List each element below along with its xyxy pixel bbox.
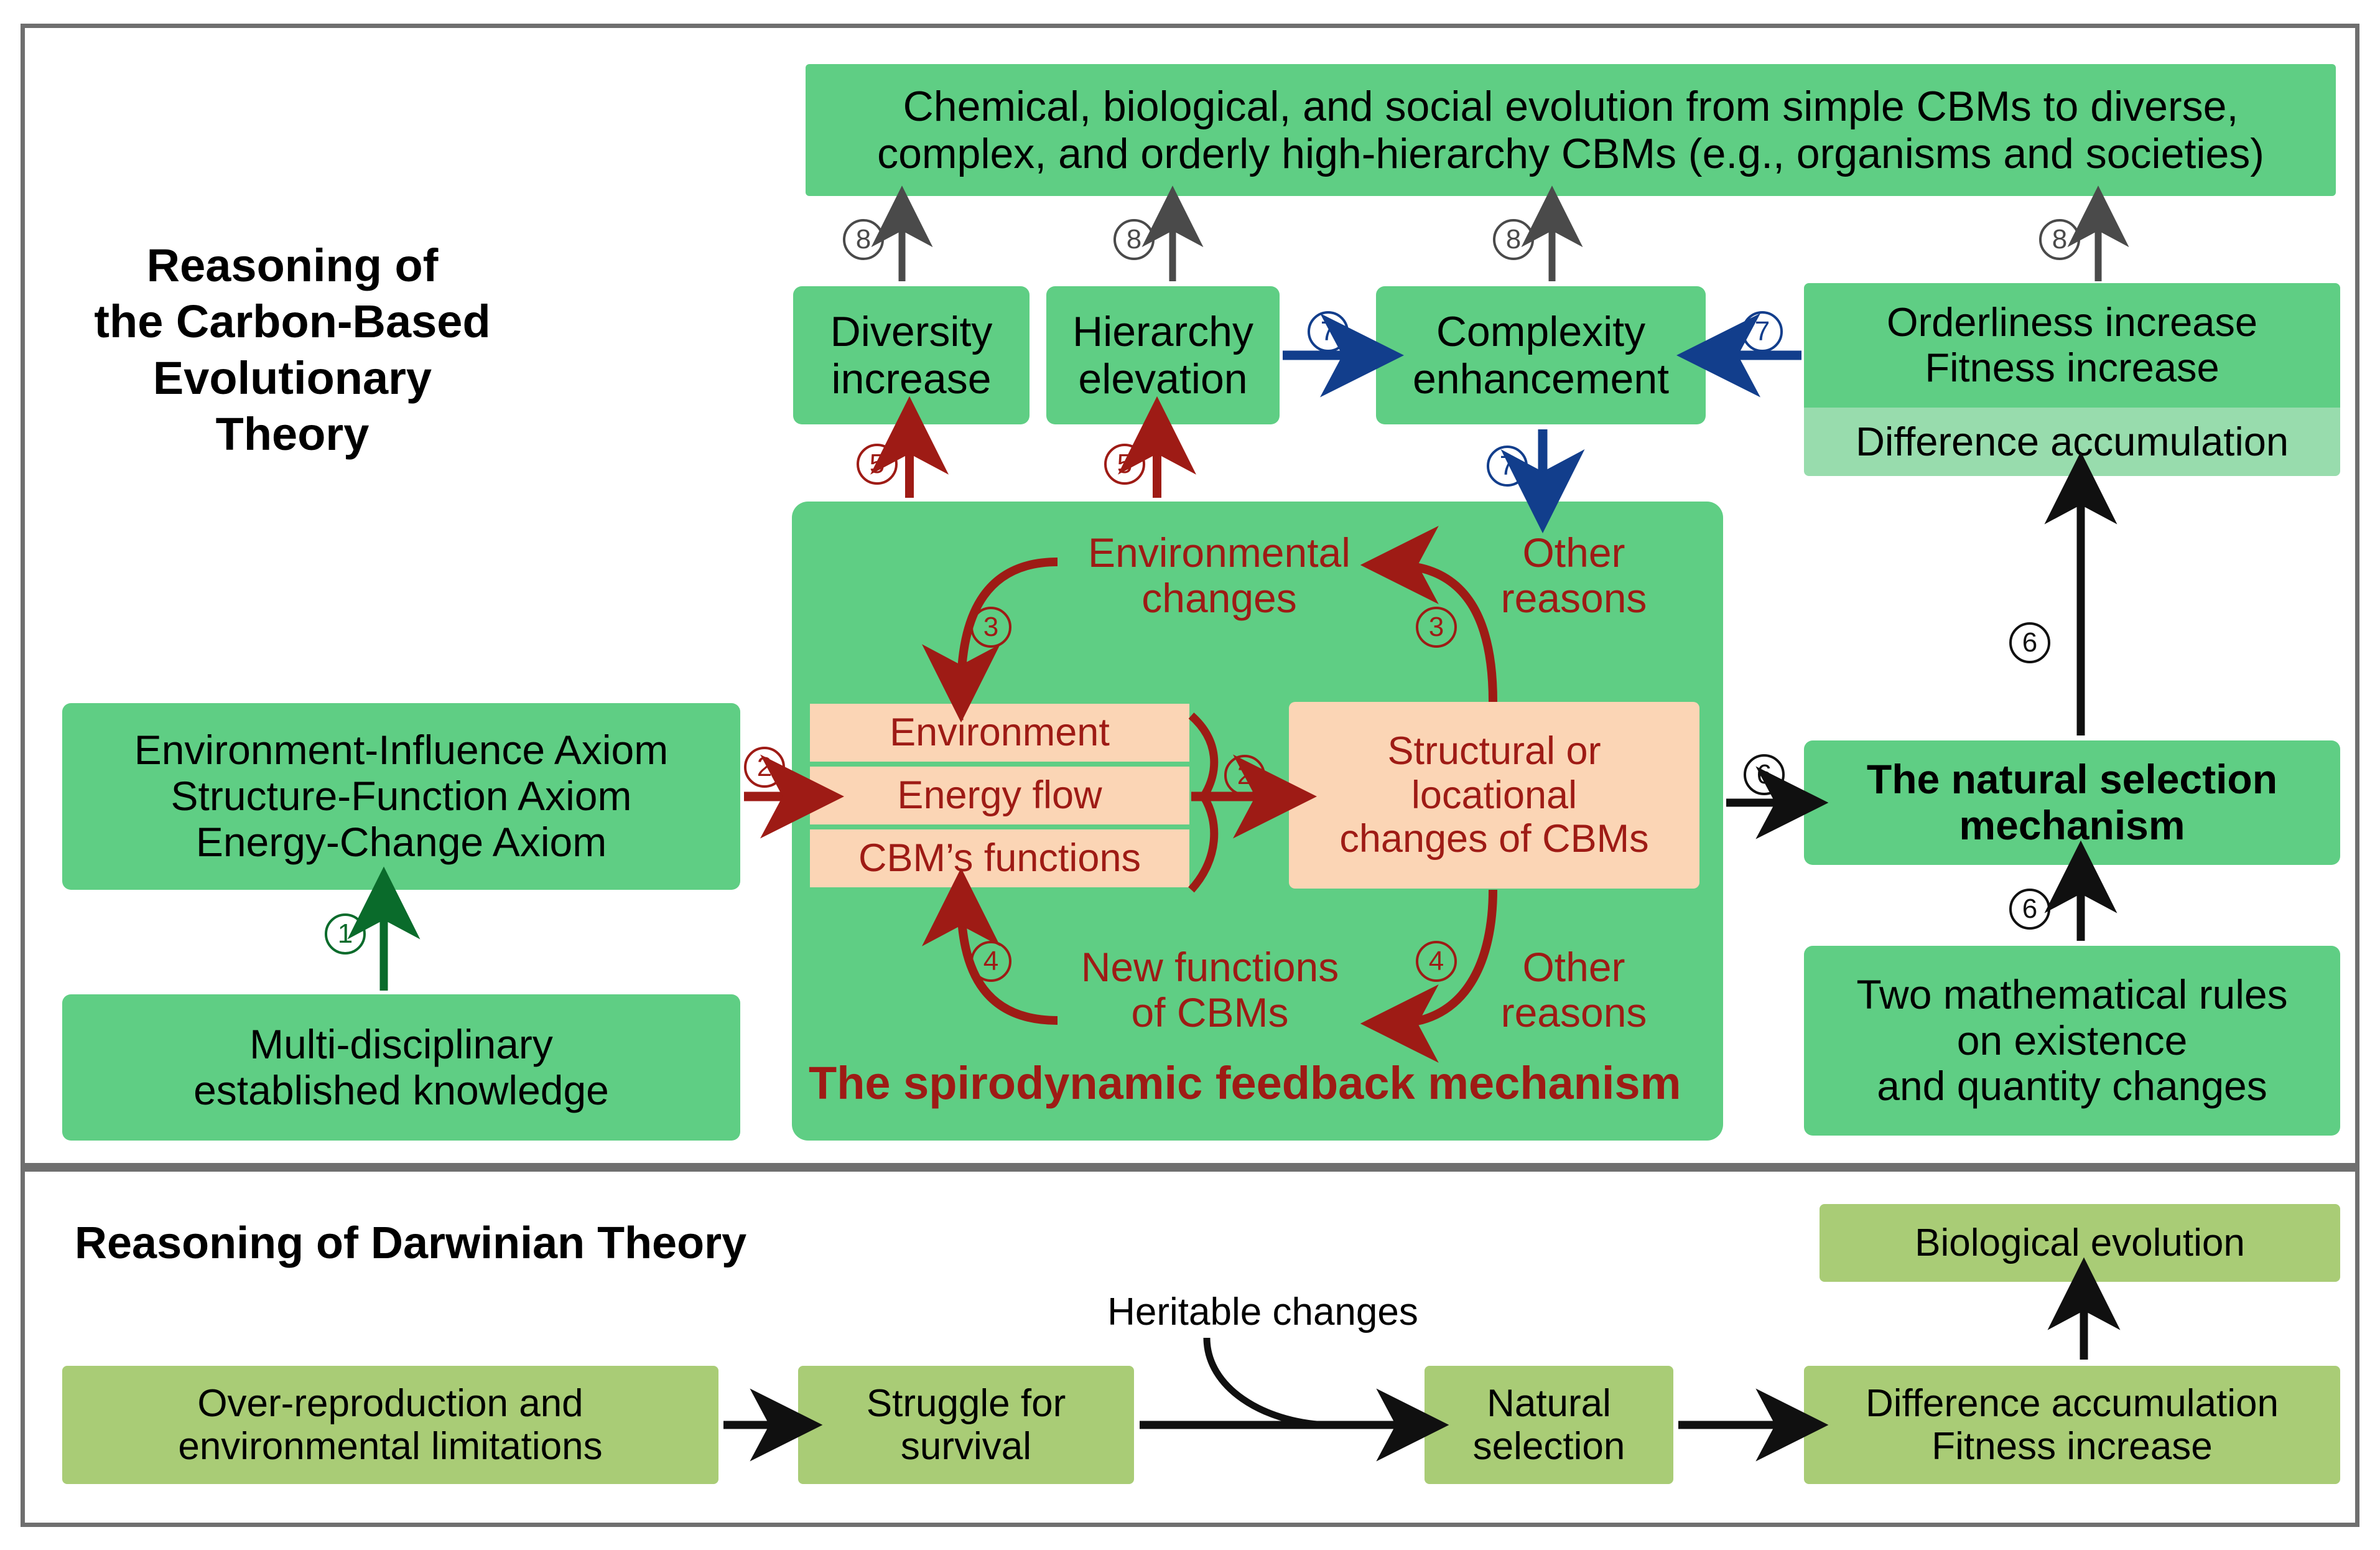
panel-top-title-line-2: the Carbon-Based: [75, 294, 510, 350]
box-difference-accumulation-top: Difference accumulation: [1804, 408, 2340, 476]
box-struggle-for-survival: Struggle for survival: [798, 1366, 1134, 1484]
label-environmental-changes: Environmental changes: [1058, 530, 1381, 620]
multidisciplinary-line-2: established knowledge: [193, 1068, 609, 1114]
axiom-line-1: Environment-Influence Axiom: [134, 727, 668, 773]
overreproduction-line-2: environmental limitations: [178, 1425, 602, 1468]
diversity-line-2: increase: [831, 355, 991, 403]
step-8-label-d: 8: [2052, 226, 2067, 253]
struggle-line-1: Struggle for: [867, 1382, 1066, 1425]
box-math-rules: Two mathematical rules on existence and …: [1804, 946, 2340, 1136]
box-complexity-enhancement: Complexity enhancement: [1376, 286, 1706, 424]
new-functions-line-1: New functions: [1048, 945, 1372, 990]
box-biological-evolution: Biological evolution: [1820, 1204, 2340, 1282]
step-3-circle-left: 3: [970, 607, 1011, 648]
step-6-label-b: 6: [2022, 895, 2037, 923]
natural-selection-bottom-line-2: selection: [1473, 1425, 1625, 1468]
step-5-circle-diversity: 5: [857, 444, 898, 485]
step-8-label-a: 8: [856, 226, 871, 253]
environmental-changes-line-1: Environmental: [1058, 530, 1381, 576]
outcome-line-1: Chemical, biological, and social evoluti…: [903, 83, 2239, 130]
environmental-changes-line-2: changes: [1058, 576, 1381, 621]
diversity-line-1: Diversity: [830, 308, 993, 355]
struggle-line-2: survival: [901, 1425, 1031, 1468]
other-reasons-bottom-line-1: Other: [1474, 945, 1673, 990]
step-4-circle-right: 4: [1416, 941, 1457, 982]
panel-bottom-title: Reasoning of Darwinian Theory: [75, 1216, 883, 1271]
outcome-line-2: complex, and orderly high-hierarchy CBMs…: [877, 130, 2264, 177]
box-multidisciplinary-knowledge: Multi-disciplinary established knowledge: [62, 994, 740, 1141]
label-new-functions-of-cbms: New functions of CBMs: [1048, 945, 1372, 1035]
step-7-circle-orderliness-to-complexity: 7: [1742, 311, 1783, 352]
box-energy-flow: Energy flow: [810, 767, 1189, 824]
step-6-label-a: 6: [1757, 761, 1772, 788]
step-7-label-c: 7: [1500, 452, 1515, 480]
panel-top-title: Reasoning of the Carbon-Based Evolutiona…: [75, 238, 510, 462]
step-8-circle-orderliness: 8: [2039, 219, 2080, 260]
step-6-circle-up-to-orderliness: 6: [2009, 622, 2050, 663]
label-heritable-changes: Heritable changes: [1033, 1291, 1493, 1333]
environment-label: Environment: [890, 711, 1110, 755]
overreproduction-line-1: Over-reproduction and: [197, 1382, 583, 1425]
cbm-functions-label: CBM’s functions: [858, 836, 1141, 880]
step-6-circle-horizontal: 6: [1744, 754, 1785, 795]
label-other-reasons-bottom: Other reasons: [1474, 945, 1673, 1035]
orderliness-line-1: Orderliness increase: [1887, 300, 2257, 345]
step-5-circle-hierarchy: 5: [1104, 444, 1145, 485]
step-8-circle-complexity: 8: [1493, 219, 1534, 260]
box-environment: Environment: [810, 704, 1189, 762]
box-difference-accumulation-bottom: Difference accumulation Fitness increase: [1804, 1366, 2340, 1484]
step-3-circle-right: 3: [1416, 607, 1457, 648]
difference-bottom-line-1: Difference accumulation: [1866, 1382, 2279, 1425]
panel-top-title-line-1: Reasoning of: [75, 238, 510, 294]
step-7-label-a: 7: [1321, 318, 1336, 345]
step-1-circle: 1: [325, 913, 366, 955]
step-5-label-b: 5: [1117, 451, 1132, 478]
outcome-box: Chemical, biological, and social evoluti…: [806, 64, 2336, 196]
structural-line-3: changes of CBMs: [1339, 817, 1648, 861]
step-2-circle-internal: 2: [1224, 755, 1265, 796]
math-rules-line-2: on existence: [1957, 1018, 2188, 1064]
step-1-label: 1: [338, 920, 353, 948]
axiom-line-2: Structure-Function Axiom: [171, 773, 632, 819]
step-7-circle-complexity-down: 7: [1487, 446, 1528, 487]
other-reasons-top-line-1: Other: [1474, 530, 1673, 576]
difference-bottom-line-2: Fitness increase: [1931, 1425, 2212, 1468]
hierarchy-line-1: Hierarchy: [1072, 308, 1253, 355]
heritable-changes-text: Heritable changes: [1107, 1291, 1418, 1333]
box-natural-selection: Natural selection: [1425, 1366, 1673, 1484]
axiom-line-3: Energy-Change Axiom: [196, 819, 607, 866]
step-6-circle-up-from-rules: 6: [2009, 889, 2050, 930]
orderliness-line-2: Fitness increase: [1925, 345, 2219, 391]
step-5-label-a: 5: [870, 451, 885, 478]
complexity-line-1: Complexity: [1436, 308, 1645, 355]
step-8-circle-diversity: 8: [843, 219, 884, 260]
diagram-canvas: Reasoning of the Carbon-Based Evolutiona…: [0, 0, 2380, 1550]
box-orderliness-fitness: Orderliness increase Fitness increase: [1804, 283, 2340, 408]
new-functions-line-2: of CBMs: [1048, 990, 1372, 1035]
panel-bottom-title-text: Reasoning of Darwinian Theory: [75, 1218, 746, 1268]
step-4-label-b: 4: [1429, 948, 1444, 975]
box-axioms: Environment-Influence Axiom Structure-Fu…: [62, 703, 740, 890]
difference-accumulation-label: Difference accumulation: [1856, 419, 2289, 465]
step-8-label-b: 8: [1127, 226, 1141, 253]
natural-selection-line-1: The natural selection: [1867, 757, 2277, 803]
box-natural-selection-mechanism: The natural selection mechanism: [1804, 740, 2340, 865]
energy-flow-label: Energy flow: [897, 773, 1102, 818]
math-rules-line-1: Two mathematical rules: [1856, 972, 2287, 1018]
other-reasons-bottom-line-2: reasons: [1474, 990, 1673, 1035]
step-3-label-a: 3: [983, 614, 998, 641]
natural-selection-line-2: mechanism: [1959, 803, 2185, 849]
step-6-label-c: 6: [2022, 629, 2037, 656]
multidisciplinary-line-1: Multi-disciplinary: [249, 1022, 553, 1068]
step-8-label-c: 8: [1506, 226, 1521, 253]
step-2-circle-axioms: 2: [744, 747, 785, 788]
biological-evolution-label: Biological evolution: [1915, 1221, 2245, 1264]
step-2-label-a: 2: [757, 754, 772, 781]
panel-top-title-line-3: Evolutionary Theory: [75, 350, 510, 463]
step-8-circle-hierarchy: 8: [1113, 219, 1155, 260]
step-3-label-b: 3: [1429, 614, 1444, 641]
math-rules-line-3: and quantity changes: [1877, 1063, 2267, 1109]
box-structural-locational-changes: Structural or locational changes of CBMs: [1289, 702, 1699, 889]
structural-line-2: locational: [1411, 773, 1577, 818]
box-overreproduction: Over-reproduction and environmental limi…: [62, 1366, 718, 1484]
natural-selection-bottom-line-1: Natural: [1487, 1382, 1611, 1425]
complexity-line-2: enhancement: [1413, 355, 1669, 403]
other-reasons-top-line-2: reasons: [1474, 576, 1673, 621]
box-cbm-functions: CBM’s functions: [810, 829, 1189, 887]
spirodynamic-caption-text: The spirodynamic feedback mechanism: [809, 1057, 1681, 1109]
step-2-label-b: 2: [1237, 762, 1252, 789]
label-spirodynamic-caption: The spirodynamic feedback mechanism: [809, 1058, 1692, 1108]
box-hierarchy-elevation: Hierarchy elevation: [1046, 286, 1280, 424]
hierarchy-line-2: elevation: [1078, 355, 1247, 403]
step-7-circle-hierarchy-to-complexity: 7: [1308, 311, 1349, 352]
box-diversity-increase: Diversity increase: [793, 286, 1030, 424]
step-4-circle-left: 4: [970, 941, 1011, 982]
label-other-reasons-top: Other reasons: [1474, 530, 1673, 620]
structural-line-1: Structural or: [1387, 729, 1601, 773]
step-4-label-a: 4: [983, 948, 998, 975]
step-7-label-b: 7: [1755, 318, 1770, 345]
